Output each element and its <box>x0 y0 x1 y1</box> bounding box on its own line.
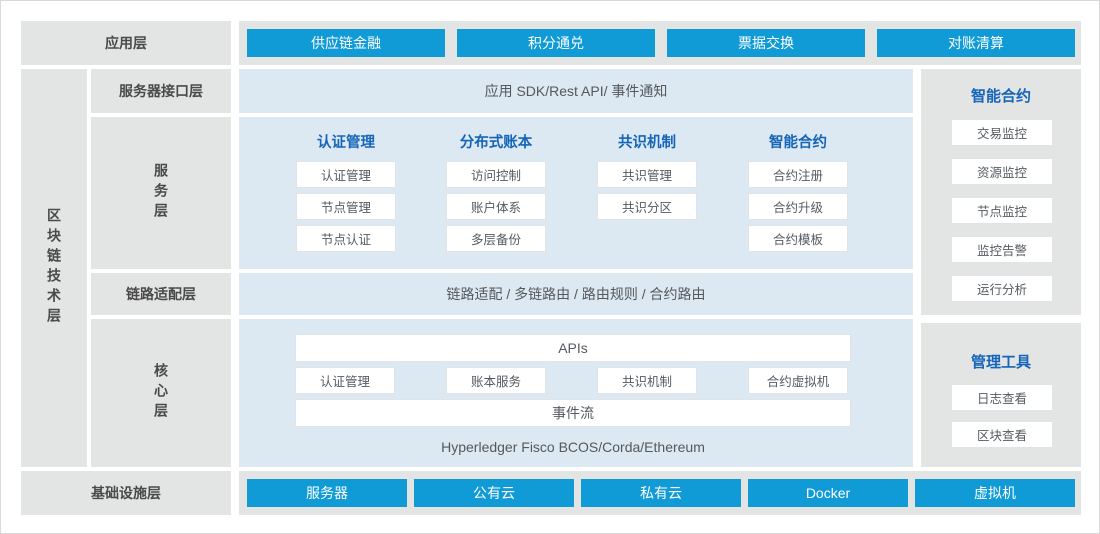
service-item-0-1-label: 节点管理 <box>321 197 371 216</box>
infrastructure-item-0[interactable]: 服务器 <box>247 479 407 507</box>
right-panel-0-item-0[interactable]: 交易监控 <box>951 119 1053 146</box>
application-item-3[interactable]: 对账清算 <box>877 29 1075 57</box>
right-panel-0-item-1-label: 资源监控 <box>977 162 1027 181</box>
right-panel-0-item-0-label: 交易监控 <box>977 123 1027 142</box>
infrastructure-item-3-label: Docker <box>806 485 850 501</box>
service-column-title-1-text: 分布式账本 <box>460 131 533 152</box>
core-service-3-label: 合约虚拟机 <box>767 371 830 390</box>
core-service-0[interactable]: 认证管理 <box>295 367 395 394</box>
service-column-title-2: 共识机制 <box>587 129 707 153</box>
service-item-3-0[interactable]: 合约注册 <box>748 161 848 188</box>
layer-label-blockchain-tech-text: 区块链技术层 <box>47 208 61 328</box>
chain-adapter-row: 链路适配 / 多链路由 / 路由规则 / 合约路由 <box>239 273 913 315</box>
service-item-3-1[interactable]: 合约升级 <box>748 193 848 220</box>
service-item-2-1-label: 共识分区 <box>622 197 672 216</box>
layer-label-chain-adapter: 链路适配层 <box>91 273 231 315</box>
right-panel-1-item-0[interactable]: 日志查看 <box>951 384 1053 411</box>
service-item-3-0-label: 合约注册 <box>773 165 823 184</box>
service-column-title-0-text: 认证管理 <box>317 131 375 152</box>
application-item-2-label: 票据交换 <box>738 33 794 53</box>
service-item-1-1[interactable]: 账户体系 <box>446 193 546 220</box>
infrastructure-item-1-label: 公有云 <box>473 483 515 503</box>
right-panel-1-item-0-label: 日志查看 <box>977 388 1027 407</box>
infrastructure-item-2-label: 私有云 <box>640 483 682 503</box>
application-item-2[interactable]: 票据交换 <box>667 29 865 57</box>
service-item-1-2-label: 多层备份 <box>471 229 521 248</box>
core-apis-label: APIs <box>558 340 588 356</box>
core-platforms-label: Hyperledger Fisco BCOS/Corda/Ethereum <box>441 439 705 455</box>
layer-label-server-interface-text: 服务器接口层 <box>119 81 203 101</box>
core-service-1[interactable]: 账本服务 <box>446 367 546 394</box>
infrastructure-item-3[interactable]: Docker <box>748 479 908 507</box>
right-panel-0-title: 智能合约 <box>921 83 1081 107</box>
core-apis-row[interactable]: APIs <box>295 334 851 362</box>
right-panel-0-item-2[interactable]: 节点监控 <box>951 197 1053 224</box>
infrastructure-item-4[interactable]: 虚拟机 <box>915 479 1075 507</box>
layer-label-infrastructure-text: 基础设施层 <box>91 483 161 503</box>
layer-label-service: 服务层 <box>91 117 231 269</box>
service-item-1-1-label: 账户体系 <box>471 197 521 216</box>
service-item-2-1[interactable]: 共识分区 <box>597 193 697 220</box>
layer-label-infrastructure: 基础设施层 <box>21 471 231 515</box>
service-item-3-2-label: 合约模板 <box>773 229 823 248</box>
service-column-title-2-text: 共识机制 <box>618 131 676 152</box>
core-service-2-label: 共识机制 <box>622 371 672 390</box>
service-item-0-1[interactable]: 节点管理 <box>296 193 396 220</box>
service-item-1-0[interactable]: 访问控制 <box>446 161 546 188</box>
service-item-2-0-label: 共识管理 <box>622 165 672 184</box>
service-column-title-0: 认证管理 <box>286 129 406 153</box>
application-item-3-label: 对账清算 <box>948 33 1004 53</box>
service-item-3-1-label: 合约升级 <box>773 197 823 216</box>
infrastructure-item-2[interactable]: 私有云 <box>581 479 741 507</box>
service-item-0-2[interactable]: 节点认证 <box>296 225 396 252</box>
core-platforms-row: Hyperledger Fisco BCOS/Corda/Ethereum <box>295 433 851 461</box>
server-interface-row: 应用 SDK/Rest API/ 事件通知 <box>239 69 913 113</box>
service-item-1-0-label: 访问控制 <box>471 165 521 184</box>
service-column-title-3-text: 智能合约 <box>769 131 827 152</box>
core-event-stream-row[interactable]: 事件流 <box>295 399 851 427</box>
core-service-1-label: 账本服务 <box>471 371 521 390</box>
service-item-0-2-label: 节点认证 <box>321 229 371 248</box>
right-panel-0-item-1[interactable]: 资源监控 <box>951 158 1053 185</box>
service-column-title-1: 分布式账本 <box>436 129 556 153</box>
core-event-stream-label: 事件流 <box>552 403 594 423</box>
right-panel-0-item-4-label: 运行分析 <box>977 279 1027 298</box>
right-panel-0-item-3-label: 监控告警 <box>977 240 1027 259</box>
core-service-0-label: 认证管理 <box>320 371 370 390</box>
right-panel-1-title-text: 管理工具 <box>971 351 1031 372</box>
application-item-0[interactable]: 供应链金融 <box>247 29 445 57</box>
service-item-1-2[interactable]: 多层备份 <box>446 225 546 252</box>
layer-label-chain-adapter-text: 链路适配层 <box>126 284 196 304</box>
layer-label-application: 应用层 <box>21 21 231 65</box>
layer-label-server-interface: 服务器接口层 <box>91 69 231 113</box>
layer-label-core: 核心层 <box>91 319 231 467</box>
server-interface-row-text: 应用 SDK/Rest API/ 事件通知 <box>485 81 668 101</box>
infrastructure-item-4-label: 虚拟机 <box>974 483 1016 503</box>
right-panel-1-item-1-label: 区块查看 <box>977 425 1027 444</box>
layer-label-core-text: 核心层 <box>154 363 168 423</box>
layer-label-service-text: 服务层 <box>154 163 168 223</box>
application-item-1-label: 积分通兑 <box>528 33 584 53</box>
service-item-2-0[interactable]: 共识管理 <box>597 161 697 188</box>
core-service-3[interactable]: 合约虚拟机 <box>748 367 848 394</box>
right-panel-1-item-1[interactable]: 区块查看 <box>951 421 1053 448</box>
infrastructure-item-0-label: 服务器 <box>306 483 348 503</box>
chain-adapter-row-text: 链路适配 / 多链路由 / 路由规则 / 合约路由 <box>446 284 705 304</box>
service-item-0-0-label: 认证管理 <box>321 165 371 184</box>
core-service-2[interactable]: 共识机制 <box>597 367 697 394</box>
right-panel-0-item-2-label: 节点监控 <box>977 201 1027 220</box>
service-column-title-3: 智能合约 <box>738 129 858 153</box>
right-panel-0-title-text: 智能合约 <box>971 85 1031 106</box>
right-panel-0-item-3[interactable]: 监控告警 <box>951 236 1053 263</box>
right-panel-0-item-4[interactable]: 运行分析 <box>951 275 1053 302</box>
layer-label-application-text: 应用层 <box>105 33 147 53</box>
service-item-3-2[interactable]: 合约模板 <box>748 225 848 252</box>
right-panel-1-title: 管理工具 <box>921 349 1081 373</box>
service-item-0-0[interactable]: 认证管理 <box>296 161 396 188</box>
application-item-1[interactable]: 积分通兑 <box>457 29 655 57</box>
layer-label-blockchain-tech: 区块链技术层 <box>21 69 87 467</box>
infrastructure-item-1[interactable]: 公有云 <box>414 479 574 507</box>
architecture-diagram: 应用层 供应链金融 积分通兑 票据交换 对账清算 区块链技术层 服务器接口层 应… <box>0 0 1100 534</box>
application-item-0-label: 供应链金融 <box>311 33 381 53</box>
